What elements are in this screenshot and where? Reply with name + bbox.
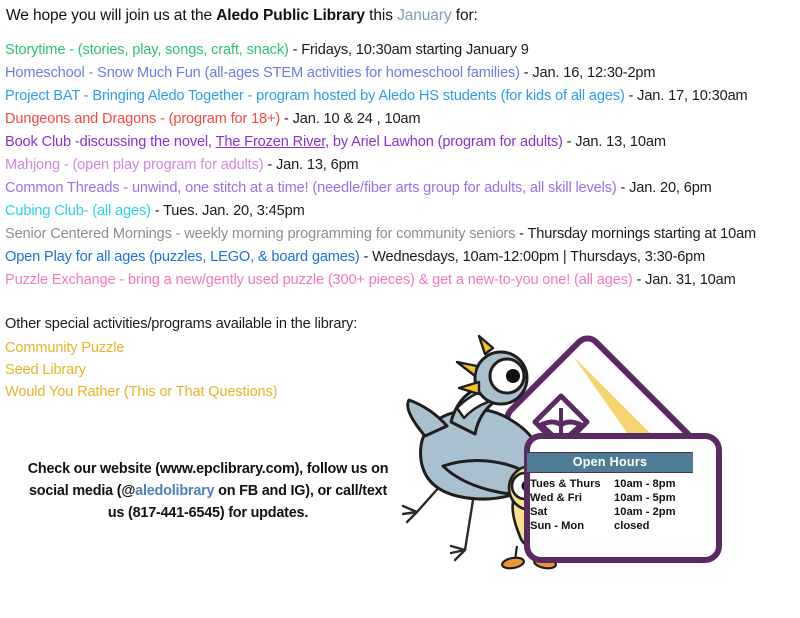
hours-time: closed [614,519,693,533]
pigeon-beak [459,382,479,394]
other-activities-list: Community Puzzle Seed Library Would You … [5,337,277,403]
program-when: - Jan. 17, 10:30am [625,88,748,104]
program-when: - Jan. 13, 10am [563,134,666,150]
footer-contact-block: Check our website (www.epclibrary.com), … [6,458,410,524]
program-when: - Thursday mornings starting at 10am [515,226,756,242]
program-line-senior-centered-mornings: Senior Centered Mornings - weekly mornin… [5,223,800,246]
hours-day: Sat [530,505,614,519]
intro-text-middle: this [365,7,397,24]
intro-text-before: We hope you will join us at the [6,7,216,24]
other-item-seed-library: Seed Library [5,359,277,381]
other-item-community-puzzle: Community Puzzle [5,337,277,359]
flyer-canvas: We hope you will join us at the Aledo Pu… [0,0,800,618]
program-name-pre: Book Club -discussing the novel, [5,134,216,150]
program-list: Storytime - (stories, play, songs, craft… [5,39,800,292]
footer-website-text: Check our website (www.epclibrary.com), … [28,461,389,477]
hours-day: Sun - Mon [530,519,614,533]
program-name: Dungeons and Dragons - (program for 18+) [5,111,280,127]
program-name: Senior Centered Mornings - weekly mornin… [5,226,515,242]
hours-day: Tues & Thurs [530,477,614,491]
program-line-storytime: Storytime - (stories, play, songs, craft… [5,39,800,62]
pigeon-crest-feather-1 [479,336,493,354]
hours-card-title: Open Hours [527,452,693,473]
program-line-project-bat: Project BAT - Bringing Aledo Together - … [5,85,800,108]
program-name: Mahjong - (open play program for adults) [5,157,263,173]
pigeon-eye-pupil [506,369,520,383]
intro-line: We hope you will join us at the Aledo Pu… [6,6,478,26]
footer-line-2: social media (@aledolibrary on FB and IG… [6,480,410,502]
other-activities-heading: Other special activities/programs availa… [5,313,357,335]
program-line-open-play: Open Play for all ages (puzzles, LEGO, &… [5,246,800,269]
hours-day: Wed & Fri [530,491,614,505]
program-name: Puzzle Exchange - bring a new/gently use… [5,272,633,288]
hours-time: 10am - 5pm [614,491,693,505]
program-when: - Wednesdays, 10am-12:00pm | Thursdays, … [360,249,706,265]
library-name: Aledo Public Library [216,7,365,24]
program-line-book-club: Book Club -discussing the novel, The Fro… [5,131,800,154]
program-when: - Jan. 20, 6pm [617,180,712,196]
footer-line-3: us (817-441-6545) for updates. [6,502,410,524]
program-name: Common Threads - unwind, one stitch at a… [5,180,617,196]
program-when: - Fridays, 10:30am starting January 9 [289,42,529,58]
hours-card-rows: Tues & Thurs 10am - 8pm Wed & Fri 10am -… [527,477,693,533]
program-name: Homeschool - Snow Much Fun (all-ages STE… [5,65,520,81]
hours-card: Open Hours Tues & Thurs 10am - 8pm Wed &… [527,452,693,533]
program-name: Cubing Club- (all ages) [5,203,151,219]
program-name: Open Play for all ages (puzzles, LEGO, &… [5,249,360,265]
program-when: - Jan. 10 & 24 , 10am [280,111,420,127]
program-line-mahjong: Mahjong - (open play program for adults)… [5,154,800,177]
book-title: The Frozen River [216,134,326,150]
program-when: - Tues. Jan. 20, 3:45pm [151,203,305,219]
program-line-dungeons-and-dragons: Dungeons and Dragons - (program for 18+)… [5,108,800,131]
program-name: Storytime - (stories, play, songs, craft… [5,42,289,58]
footer-social-suffix: on FB and IG), or call/text [214,483,387,499]
program-line-common-threads: Common Threads - unwind, one stitch at a… [5,177,800,200]
program-name-post: , by Ariel Lawhon (program for adults) [325,134,563,150]
program-when: - Jan. 13, 6pm [263,157,358,173]
program-name: Project BAT - Bringing Aledo Together - … [5,88,625,104]
pigeon-crest-feather-2 [457,362,477,376]
footer-social-prefix: social media (@ [29,483,135,499]
program-line-homeschool: Homeschool - Snow Much Fun (all-ages STE… [5,62,800,85]
duckling-foot-left [501,556,524,570]
footer-line-1: Check our website (www.epclibrary.com), … [6,458,410,480]
program-line-cubing-club: Cubing Club- (all ages) - Tues. Jan. 20,… [5,200,800,223]
intro-text-after: for: [452,7,478,24]
hours-time: 10am - 8pm [614,477,693,491]
program-when: - Jan. 31, 10am [633,272,736,288]
hours-time: 10am - 2pm [614,505,693,519]
social-handle: aledolibrary [135,483,214,499]
program-when: - Jan. 16, 12:30-2pm [520,65,656,81]
other-item-would-you-rather: Would You Rather (This or That Questions… [5,381,277,403]
intro-month: January [397,7,451,24]
program-line-puzzle-exchange: Puzzle Exchange - bring a new/gently use… [5,269,800,292]
